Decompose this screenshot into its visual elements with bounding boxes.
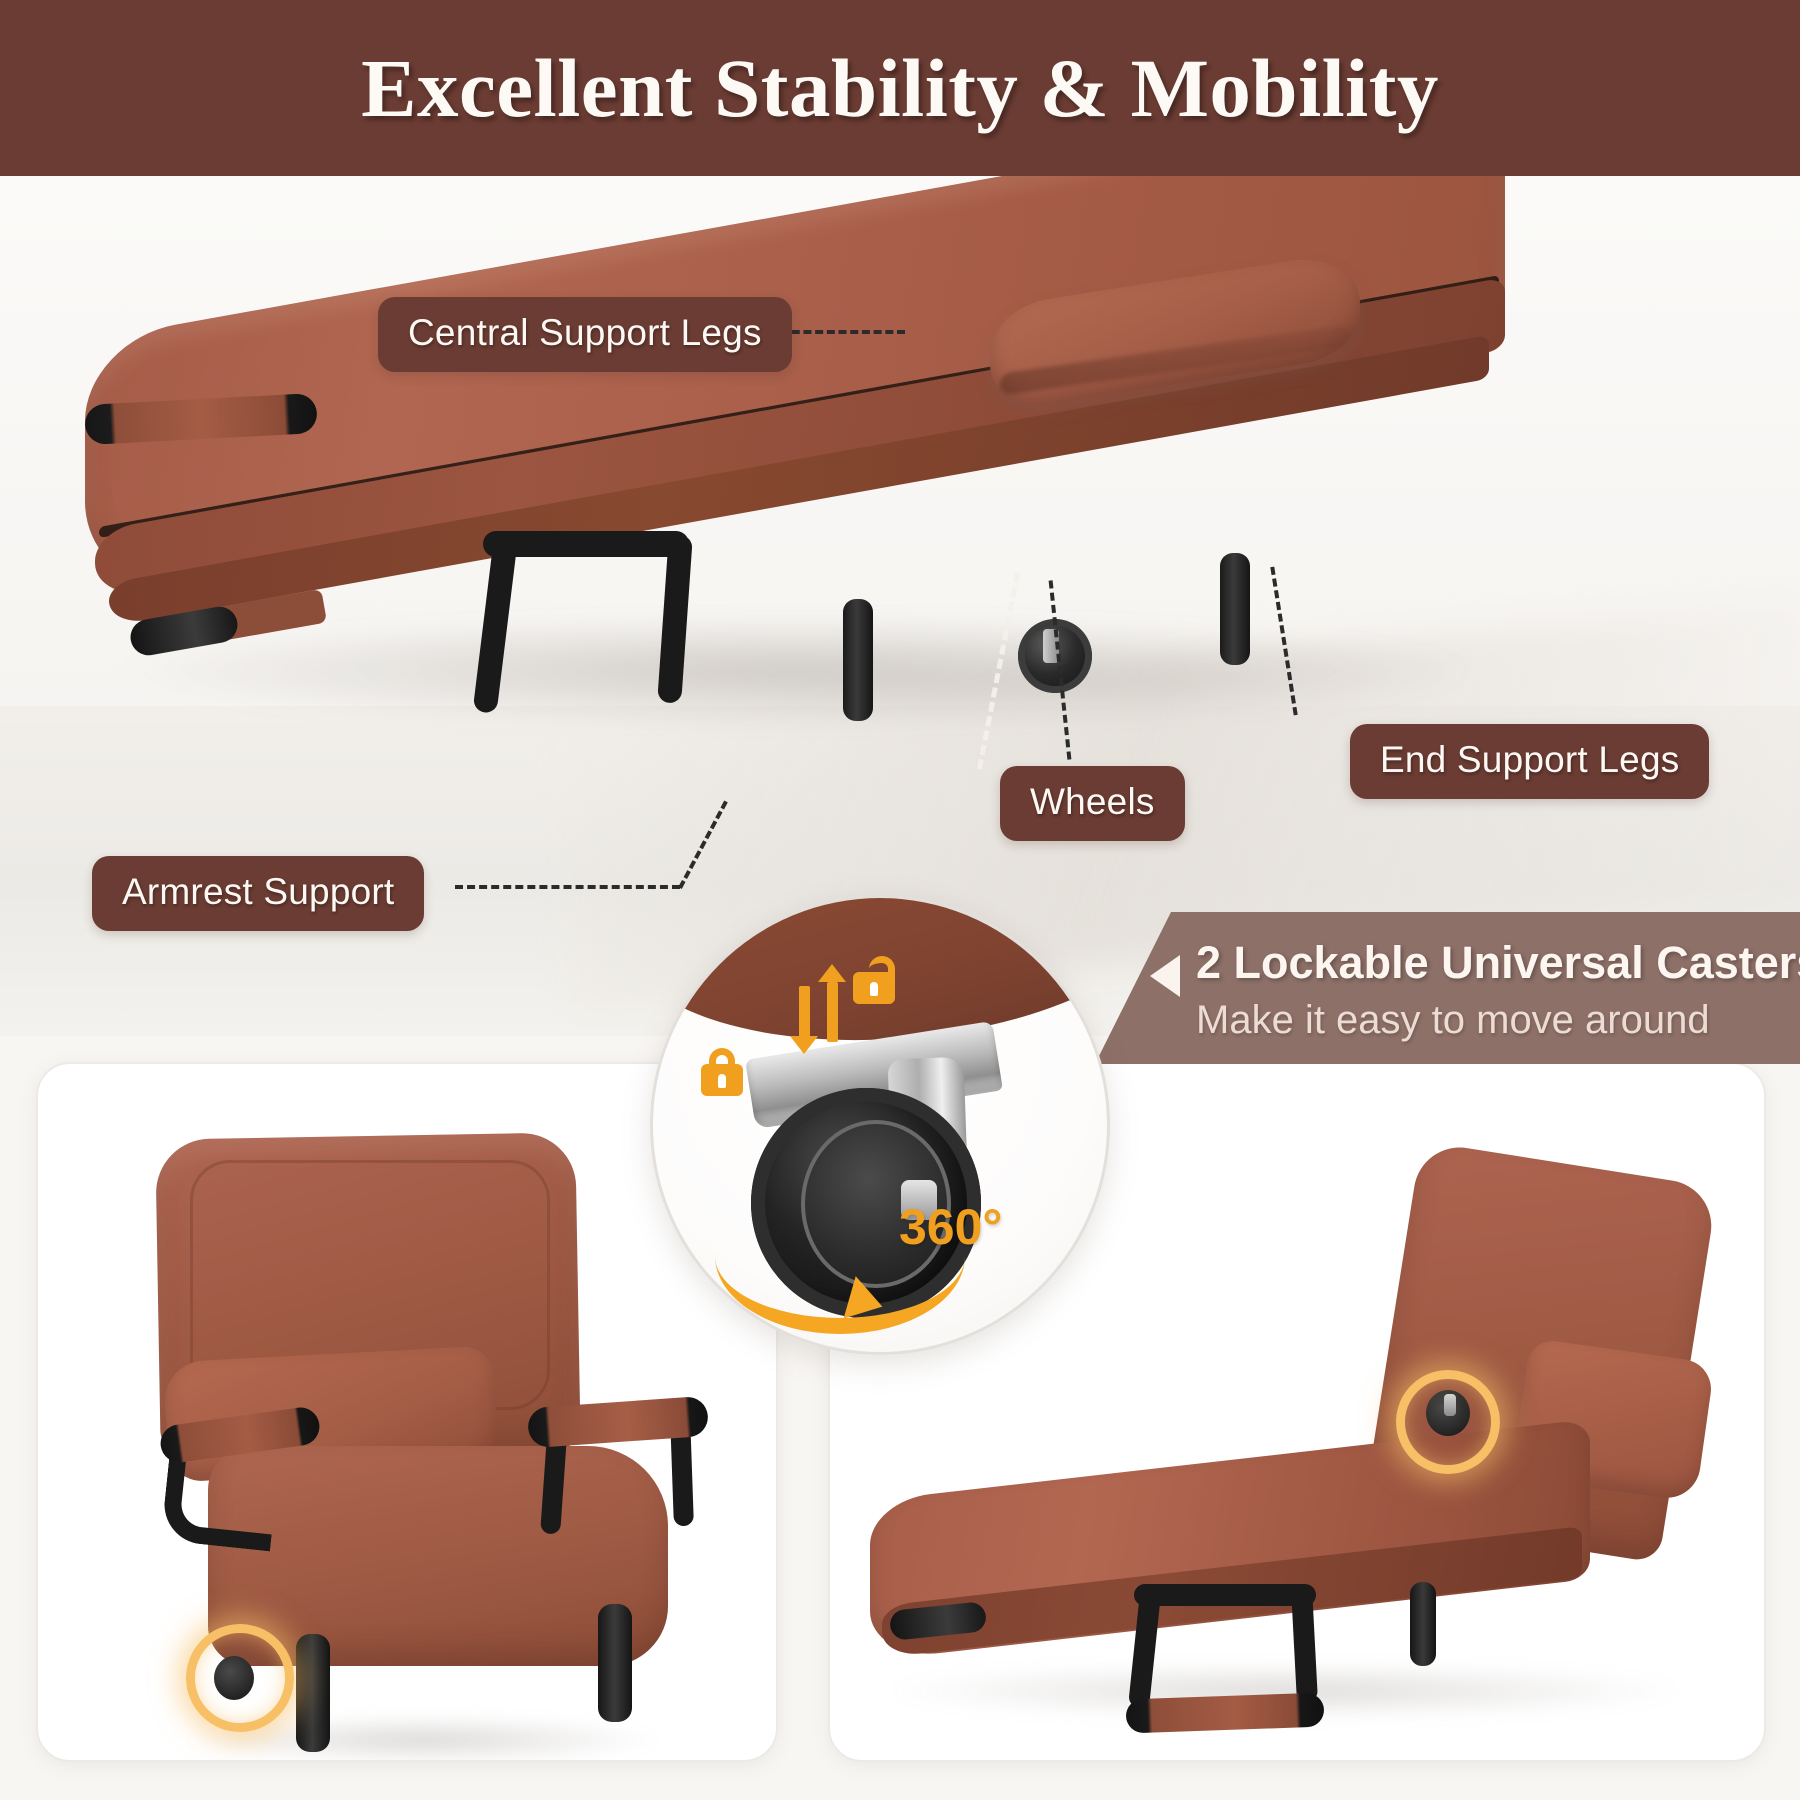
armrest-support-frame: [475, 531, 705, 721]
infographic-root: Excellent Stability & Mobility: [0, 0, 1800, 1800]
chaise-center-leg: [1410, 1582, 1436, 1666]
up-down-arrow-icon: [793, 976, 845, 1050]
armrest-tube-right: [657, 534, 693, 703]
chaise-armrest-tube-left: [1128, 1591, 1161, 1709]
end-support-leg: [1220, 553, 1250, 665]
caster-highlight-ring: [186, 1624, 294, 1732]
caster-banner-title: 2 Lockable Universal Casters: [1196, 937, 1800, 989]
caster-banner-subtitle: Make it easy to move around: [1196, 998, 1710, 1043]
caster-highlight-ring: [1396, 1370, 1500, 1474]
armchair-side-leg: [598, 1604, 632, 1722]
page-title: Excellent Stability & Mobility: [361, 40, 1439, 136]
product-flat-bed: [85, 231, 1535, 831]
chaise-armrest-tube-right: [1291, 1588, 1318, 1703]
armchair-front-leg: [296, 1634, 330, 1752]
callout-central-support-legs[interactable]: Central Support Legs: [378, 297, 792, 372]
bed-drop-shadow: [105, 616, 1485, 726]
rotation-degree-label: 360°: [899, 1198, 1002, 1256]
armrest-tube-left: [473, 540, 518, 714]
header-band: Excellent Stability & Mobility: [0, 0, 1800, 176]
lock-closed-icon: [701, 1048, 743, 1096]
central-support-leg: [843, 599, 873, 721]
callout-armrest-support[interactable]: Armrest Support: [92, 856, 424, 931]
callout-end-support-legs[interactable]: End Support Legs: [1350, 724, 1709, 799]
left-triangle-icon: [1150, 955, 1180, 997]
chaise-armrest-pad: [1125, 1693, 1324, 1734]
callout-wheels[interactable]: Wheels: [1000, 766, 1185, 841]
chaise-armrest-tube-top: [1134, 1584, 1316, 1606]
caster-detail-bubble: 360°: [650, 895, 1110, 1355]
lock-open-icon: [853, 956, 895, 1004]
